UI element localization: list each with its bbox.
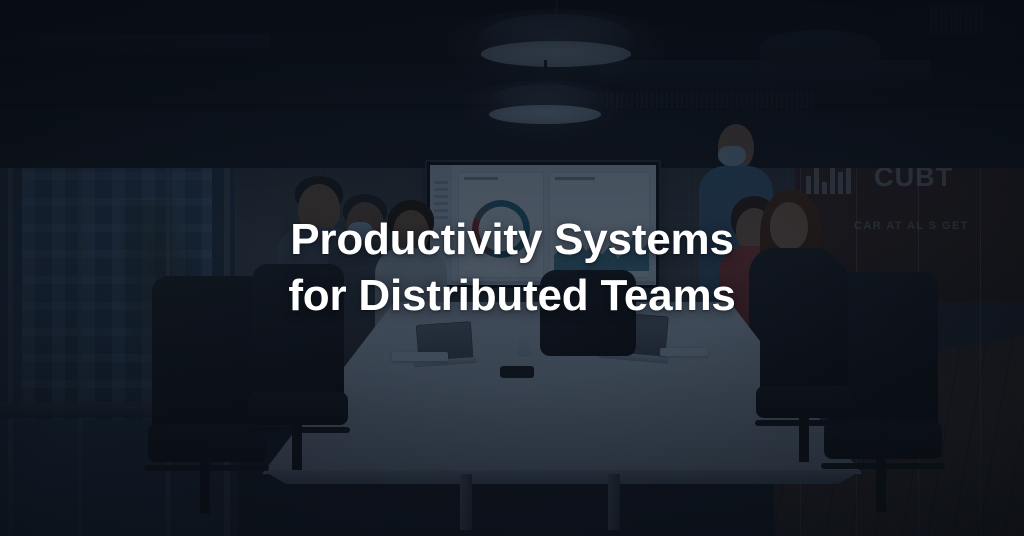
ceiling-duct-round bbox=[760, 30, 880, 72]
background-photo: UD TAL MALSTE CUBT CAR AT AL S GET bbox=[0, 0, 1024, 536]
chair-post bbox=[292, 416, 302, 470]
ceiling-duct bbox=[40, 34, 270, 52]
chair-back bbox=[760, 262, 848, 406]
pendant-diffuser-disc bbox=[481, 41, 631, 67]
head bbox=[770, 202, 808, 250]
chair-post bbox=[799, 410, 809, 462]
pendant-light-back bbox=[487, 84, 603, 122]
chair-post bbox=[200, 452, 210, 514]
notepad bbox=[660, 348, 708, 356]
chair-right-back bbox=[760, 262, 848, 462]
chair-post bbox=[876, 450, 886, 512]
chair-head-of-table bbox=[540, 270, 636, 390]
chair-left-front bbox=[152, 276, 262, 514]
card-title-bar bbox=[555, 177, 594, 180]
pendant-rod bbox=[544, 60, 547, 86]
phone-on-table bbox=[500, 366, 534, 378]
donut-chart-card bbox=[458, 172, 544, 278]
ceiling-vent-grille bbox=[586, 92, 816, 108]
water-glass bbox=[516, 330, 532, 358]
ceiling-vent-grille bbox=[930, 4, 984, 34]
donut-chart bbox=[472, 200, 530, 258]
wall-sign-tagline: CAR AT AL S GET bbox=[854, 220, 969, 232]
face-mask bbox=[348, 222, 372, 240]
card-title-bar bbox=[464, 177, 498, 180]
ceiling-duct bbox=[600, 60, 930, 86]
hero-banner: UD TAL MALSTE CUBT CAR AT AL S GET bbox=[0, 0, 1024, 536]
table-leg bbox=[460, 474, 472, 530]
area-chart-card bbox=[549, 172, 650, 278]
chair-left-back bbox=[252, 264, 344, 470]
conference-table-edge bbox=[262, 470, 862, 484]
face-mask bbox=[718, 146, 746, 166]
area-chart bbox=[554, 225, 650, 271]
pendant-light-front bbox=[478, 14, 634, 64]
chair-back bbox=[540, 270, 636, 356]
notepad bbox=[392, 352, 448, 361]
table-leg bbox=[608, 474, 620, 530]
chair-back bbox=[152, 276, 262, 447]
dashboard-ui bbox=[430, 165, 656, 285]
chair-back bbox=[252, 264, 344, 412]
pendant-diffuser-disc bbox=[489, 105, 600, 125]
dashboard-content bbox=[452, 165, 656, 285]
